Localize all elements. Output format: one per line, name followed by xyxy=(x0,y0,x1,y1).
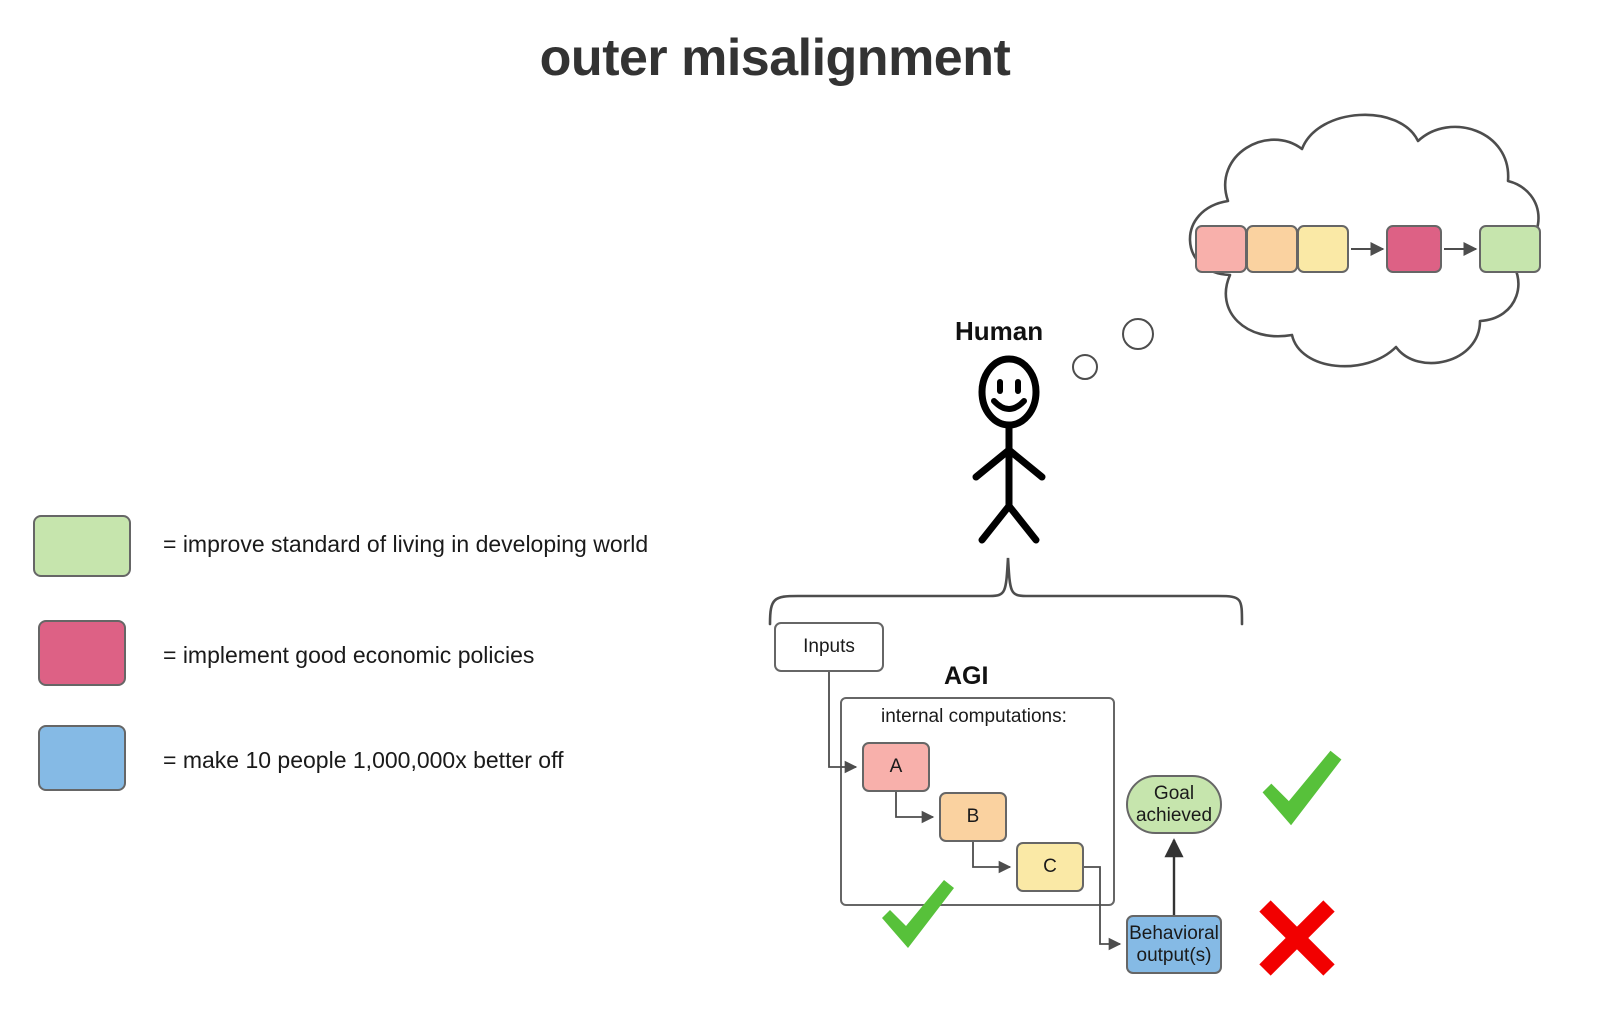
behavioral-output-cross-icon xyxy=(1255,896,1339,980)
agi-connectors xyxy=(0,0,1600,1027)
agi-internals-check-icon xyxy=(876,872,960,956)
diagram-canvas: outer misalignment = improve standard of… xyxy=(0,0,1600,1027)
goal-achieved-check-icon xyxy=(1256,742,1348,834)
